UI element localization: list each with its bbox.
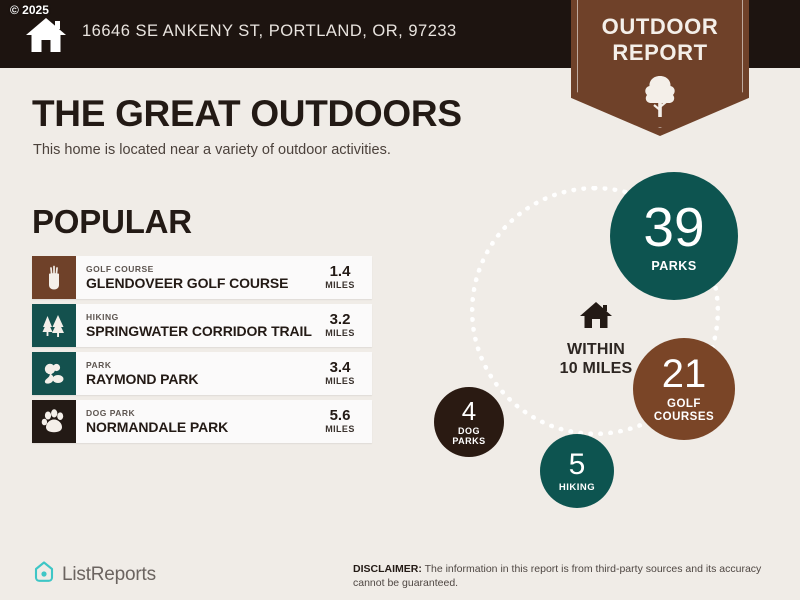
page-title: THE GREAT OUTDOORS (32, 93, 462, 135)
page-subtitle: This home is located near a variety of o… (33, 142, 391, 158)
golf-bag-icon (32, 256, 76, 299)
center-label-line2: 10 MILES (528, 359, 664, 378)
list-item-text: HIKING SPRINGWATER CORRIDOR TRAIL (76, 312, 314, 340)
distance-value: 3.4 (314, 360, 366, 376)
bubble-golf-value: 21 (662, 354, 707, 394)
distance-unit: MILES (314, 328, 366, 339)
list-item-text: DOG PARK NORMANDALE PARK (76, 408, 314, 436)
bubble-hiking-value: 5 (569, 450, 586, 480)
list-item-text: GOLF COURSE GLENDOVEER GOLF COURSE (76, 264, 314, 292)
bubble-golf-label-line1: GOLF (667, 398, 701, 411)
outdoor-report-badge: OUTDOOR REPORT (571, 0, 749, 136)
list-item-name: NORMANDALE PARK (86, 419, 314, 436)
bubble-hiking-label: HIKING (559, 483, 595, 493)
center-label-line1: WITHIN (528, 340, 664, 359)
house-icon (578, 317, 614, 334)
bubble-golf-label-line2: COURSES (654, 411, 714, 424)
bubble-dog-label-line1: DOG (458, 426, 480, 437)
listreports-pin-icon (33, 560, 55, 589)
bubble-parks: 39 PARKS (610, 172, 738, 300)
disclaimer-label: DISCLAIMER: (353, 563, 422, 575)
list-item-distance: 3.2 MILES (314, 312, 372, 339)
list-item-category: GOLF COURSE (86, 264, 314, 275)
list-item[interactable]: GOLF COURSE GLENDOVEER GOLF COURSE 1.4 M… (32, 256, 372, 299)
list-item[interactable]: DOG PARK NORMANDALE PARK 5.6 MILES (32, 400, 372, 443)
within-10-miles-chart: 39 PARKS 21 GOLF COURSES 5 HIKING 4 DOG … (420, 172, 780, 517)
badge-title-line1: OUTDOOR (571, 14, 749, 40)
list-item-name: RAYMOND PARK (86, 371, 314, 388)
list-item-distance: 1.4 MILES (314, 264, 372, 291)
house-icon (22, 10, 70, 58)
distance-value: 3.2 (314, 312, 366, 328)
distance-unit: MILES (314, 424, 366, 435)
list-item-name: SPRINGWATER CORRIDOR TRAIL (86, 323, 314, 340)
disclaimer: DISCLAIMER: The information in this repo… (353, 562, 783, 590)
listreports-logo-text: ListReports (62, 564, 156, 586)
bubble-parks-label: PARKS (651, 260, 696, 273)
list-item-category: DOG PARK (86, 408, 314, 419)
property-address: 16646 SE ANKENY ST, PORTLAND, OR, 97233 (82, 22, 457, 41)
paw-print-icon (32, 400, 76, 443)
copyright-watermark: © 2025 (10, 3, 49, 17)
popular-section-heading: POPULAR (32, 203, 192, 241)
bubble-parks-value: 39 (643, 200, 704, 255)
popular-poi-list: GOLF COURSE GLENDOVEER GOLF COURSE 1.4 M… (32, 256, 372, 448)
trees-icon (32, 304, 76, 347)
bubble-dog-label-line2: PARKS (452, 436, 485, 447)
distance-value: 1.4 (314, 264, 366, 280)
distance-value: 5.6 (314, 408, 366, 424)
distance-unit: MILES (314, 280, 366, 291)
listreports-logo[interactable]: ListReports (33, 560, 156, 589)
list-item-name: GLENDOVEER GOLF COURSE (86, 275, 314, 292)
list-item-distance: 5.6 MILES (314, 408, 372, 435)
bubble-hiking: 5 HIKING (540, 434, 614, 508)
list-item[interactable]: PARK RAYMOND PARK 3.4 MILES (32, 352, 372, 395)
bubble-dog-value: 4 (462, 398, 476, 424)
list-item-category: HIKING (86, 312, 314, 323)
list-item-category: PARK (86, 360, 314, 371)
list-item-text: PARK RAYMOND PARK (76, 360, 314, 388)
bubble-dog-parks: 4 DOG PARKS (434, 387, 504, 457)
tree-icon (571, 74, 749, 123)
distance-unit: MILES (314, 376, 366, 387)
list-item-distance: 3.4 MILES (314, 360, 372, 387)
badge-title-line2: REPORT (571, 40, 749, 66)
chart-center-label: WITHIN 10 MILES (528, 300, 664, 378)
park-trees-icon (32, 352, 76, 395)
list-item[interactable]: HIKING SPRINGWATER CORRIDOR TRAIL 3.2 MI… (32, 304, 372, 347)
